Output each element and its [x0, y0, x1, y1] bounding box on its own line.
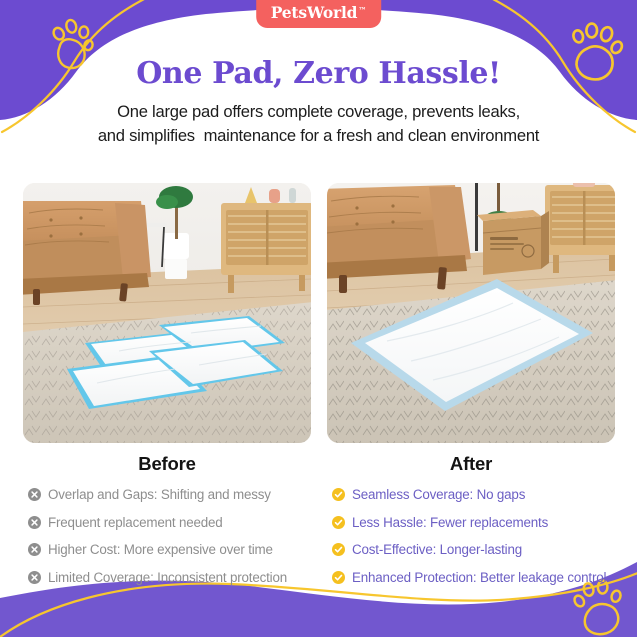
check-circle-icon	[332, 488, 345, 501]
check-circle-icon	[332, 516, 345, 529]
list-item: Frequent replacement needed	[28, 514, 311, 532]
list-item: Limited Coverage: Inconsistent protectio…	[28, 569, 311, 587]
before-bullet-list: Overlap and Gaps: Shifting and messy Fre…	[23, 486, 311, 587]
after-photo	[327, 183, 615, 443]
bullet-label: Cost-Effective: Longer-lasting	[352, 541, 522, 559]
cross-circle-icon	[28, 516, 41, 529]
bullet-label: Enhanced Protection: Better leakage cont…	[352, 569, 606, 587]
before-label: Before	[23, 453, 311, 475]
bullet-label: Higher Cost: More expensive over time	[48, 541, 273, 559]
after-label: After	[327, 453, 615, 475]
brand-badge: PetsWorld ™	[256, 0, 382, 28]
page-title: One Pad, Zero Hassle!	[0, 57, 637, 90]
cross-circle-icon	[28, 488, 41, 501]
list-item: Cost-Effective: Longer-lasting	[332, 541, 615, 559]
bullet-label: Frequent replacement needed	[48, 514, 223, 532]
after-bullet-list: Seamless Coverage: No gaps Less Hassle: …	[327, 486, 615, 587]
before-photo	[23, 183, 311, 443]
list-item: Less Hassle: Fewer replacements	[332, 514, 615, 532]
bullet-label: Limited Coverage: Inconsistent protectio…	[48, 569, 287, 587]
trademark-symbol: ™	[358, 6, 366, 14]
cross-circle-icon	[28, 543, 41, 556]
bullet-label: Less Hassle: Fewer replacements	[352, 514, 548, 532]
before-column: Before Overlap and Gaps: Shifting and me…	[23, 183, 311, 597]
bullet-label: Seamless Coverage: No gaps	[352, 486, 525, 504]
after-photo-card	[327, 183, 615, 443]
cross-circle-icon	[28, 571, 41, 584]
infographic-poster: PetsWorld ™ One Pad, Zero Hassle! One la…	[0, 0, 637, 637]
before-photo-card	[23, 183, 311, 443]
list-item: Overlap and Gaps: Shifting and messy	[28, 486, 311, 504]
list-item: Enhanced Protection: Better leakage cont…	[332, 569, 615, 587]
header-text-block: One Pad, Zero Hassle! One large pad offe…	[0, 57, 637, 147]
brand-name: PetsWorld	[271, 5, 358, 21]
bullet-label: Overlap and Gaps: Shifting and messy	[48, 486, 271, 504]
after-column: After Seamless Coverage: No gaps Less Ha…	[327, 183, 615, 597]
page-subtitle: One large pad offers complete coverage, …	[0, 100, 637, 147]
list-item: Higher Cost: More expensive over time	[28, 541, 311, 559]
check-circle-icon	[332, 543, 345, 556]
check-circle-icon	[332, 571, 345, 584]
list-item: Seamless Coverage: No gaps	[332, 486, 615, 504]
comparison-section: Before Overlap and Gaps: Shifting and me…	[0, 183, 637, 597]
